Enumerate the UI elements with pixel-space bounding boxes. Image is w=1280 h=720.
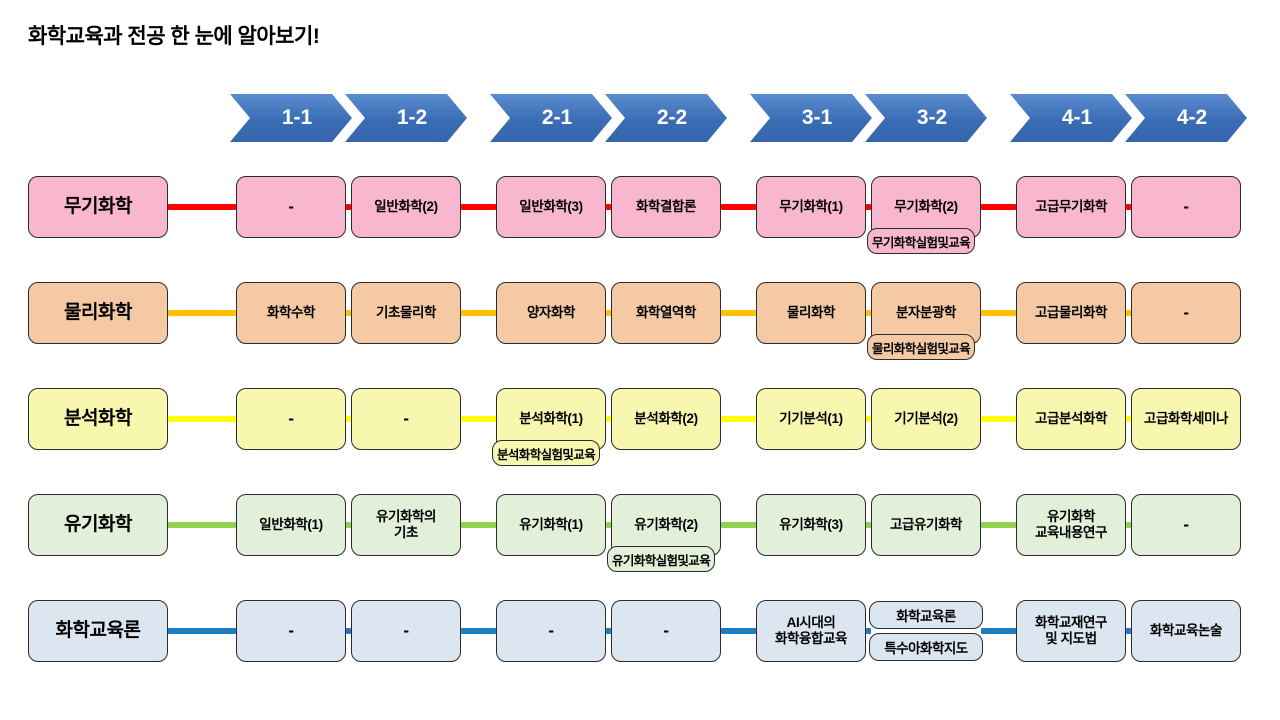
track-connector [981, 310, 1016, 316]
semester-chevron-label: 3-1 [802, 106, 832, 130]
course-lab-sublabel: 분석화학실험및교육 [492, 440, 600, 466]
track-connector [461, 416, 496, 422]
track-connector [981, 628, 1016, 634]
course-cell: 일반화학(1) [236, 494, 346, 556]
semester-chevron-label: 3-2 [917, 106, 947, 130]
course-lab-sublabel: 물리화학실험및교육 [867, 334, 975, 360]
track-connector [168, 310, 236, 316]
semester-chevron-2-2: 2-2 [605, 94, 727, 142]
track-connector [168, 628, 236, 634]
semester-chevron-4-1: 4-1 [1010, 94, 1132, 142]
course-cell: 기기분석(2) [871, 388, 981, 450]
course-cell: 고급무기화학 [1016, 176, 1126, 238]
track-row-화학교육론: 화학교육론----AI시대의 화학융합교육화학교육론특수아화학지도화학교재연구 … [0, 600, 1280, 696]
course-cell: 무기화학(1) [756, 176, 866, 238]
course-cell: 화학열역학 [611, 282, 721, 344]
course-cell-empty: - [1131, 176, 1241, 238]
track-connector [721, 204, 756, 210]
course-cell: 고급분석화학 [1016, 388, 1126, 450]
course-cell: 고급물리화학 [1016, 282, 1126, 344]
course-cell: 화학수학 [236, 282, 346, 344]
semester-chevron-3-2: 3-2 [865, 94, 987, 142]
course-cell-empty: - [1131, 282, 1241, 344]
course-cell: 화학교육논술 [1131, 600, 1241, 662]
course-cell-empty: - [611, 600, 721, 662]
track-connector [981, 522, 1016, 528]
track-connector [168, 522, 236, 528]
course-cell: 양자화학 [496, 282, 606, 344]
course-cell: 물리화학 [756, 282, 866, 344]
semester-chevron-2-1: 2-1 [490, 94, 612, 142]
track-connector [461, 522, 496, 528]
track-label-물리화학: 물리화학 [28, 282, 168, 344]
track-connector [461, 204, 496, 210]
course-cell: 유기화학 교육내용연구 [1016, 494, 1126, 556]
track-connector [461, 628, 496, 634]
semester-chevron-3-1: 3-1 [750, 94, 872, 142]
course-lab-sublabel: 무기화학실험및교육 [867, 228, 975, 254]
course-cell-empty: - [236, 176, 346, 238]
semester-chevron-label: 2-1 [542, 106, 572, 130]
semester-chevron-label: 4-1 [1062, 106, 1092, 130]
course-cell: 고급유기화학 [871, 494, 981, 556]
semester-chevron-label: 4-2 [1177, 106, 1207, 130]
course-cell-empty: - [236, 600, 346, 662]
track-connector [461, 310, 496, 316]
course-cell-empty: - [1131, 494, 1241, 556]
course-cell: 화학교재연구 및 지도법 [1016, 600, 1126, 662]
course-cell: 특수아화학지도 [869, 633, 983, 661]
course-cell-empty: - [236, 388, 346, 450]
track-connector [981, 204, 1016, 210]
course-cell: 기기분석(1) [756, 388, 866, 450]
track-row-무기화학: 무기화학-일반화학(2)일반화학(3)화학결합론무기화학(1)무기화학(2)무기… [0, 176, 1280, 272]
course-cell: 고급화학세미나 [1131, 388, 1241, 450]
track-row-유기화학: 유기화학일반화학(1)유기화학의 기초유기화학(1)유기화학(2)유기화학실험및… [0, 494, 1280, 590]
track-connector [981, 416, 1016, 422]
track-connector [721, 310, 756, 316]
course-cell: 분석화학(2) [611, 388, 721, 450]
course-cell: 유기화학의 기초 [351, 494, 461, 556]
track-label-분석화학: 분석화학 [28, 388, 168, 450]
track-connector [866, 628, 871, 634]
course-cell: 유기화학(3) [756, 494, 866, 556]
course-cell-empty: - [351, 600, 461, 662]
track-connector [721, 522, 756, 528]
semester-chevron-4-2: 4-2 [1125, 94, 1247, 142]
track-connector [168, 204, 236, 210]
semester-header-row: 1-11-22-12-23-13-24-14-2 [0, 94, 1280, 142]
course-cell: AI시대의 화학융합교육 [756, 600, 866, 662]
semester-chevron-1-1: 1-1 [230, 94, 352, 142]
track-connector [721, 416, 756, 422]
track-connector [721, 628, 756, 634]
course-cell: 화학교육론 [869, 601, 983, 629]
track-connector [168, 416, 236, 422]
page-title: 화학교육과 전공 한 눈에 알아보기! [28, 20, 319, 50]
semester-chevron-1-2: 1-2 [345, 94, 467, 142]
semester-chevron-label: 1-1 [282, 106, 312, 130]
course-cell: 일반화학(3) [496, 176, 606, 238]
diagram-canvas: 화학교육과 전공 한 눈에 알아보기! 1-11-22-12-23-13-24-… [0, 0, 1280, 720]
course-cell: 화학결합론 [611, 176, 721, 238]
course-cell: 일반화학(2) [351, 176, 461, 238]
semester-chevron-label: 1-2 [397, 106, 427, 130]
track-label-유기화학: 유기화학 [28, 494, 168, 556]
course-cell-empty: - [496, 600, 606, 662]
track-label-화학교육론: 화학교육론 [28, 600, 168, 662]
track-row-분석화학: 분석화학--분석화학(1)분석화학실험및교육분석화학(2)기기분석(1)기기분석… [0, 388, 1280, 484]
course-lab-sublabel: 유기화학실험및교육 [607, 546, 715, 572]
semester-chevron-label: 2-2 [657, 106, 687, 130]
track-row-물리화학: 물리화학화학수학기초물리학양자화학화학열역학물리화학분자분광학물리화학실험및교육… [0, 282, 1280, 378]
track-label-무기화학: 무기화학 [28, 176, 168, 238]
course-cell-empty: - [351, 388, 461, 450]
course-cell: 기초물리학 [351, 282, 461, 344]
course-cell: 유기화학(1) [496, 494, 606, 556]
